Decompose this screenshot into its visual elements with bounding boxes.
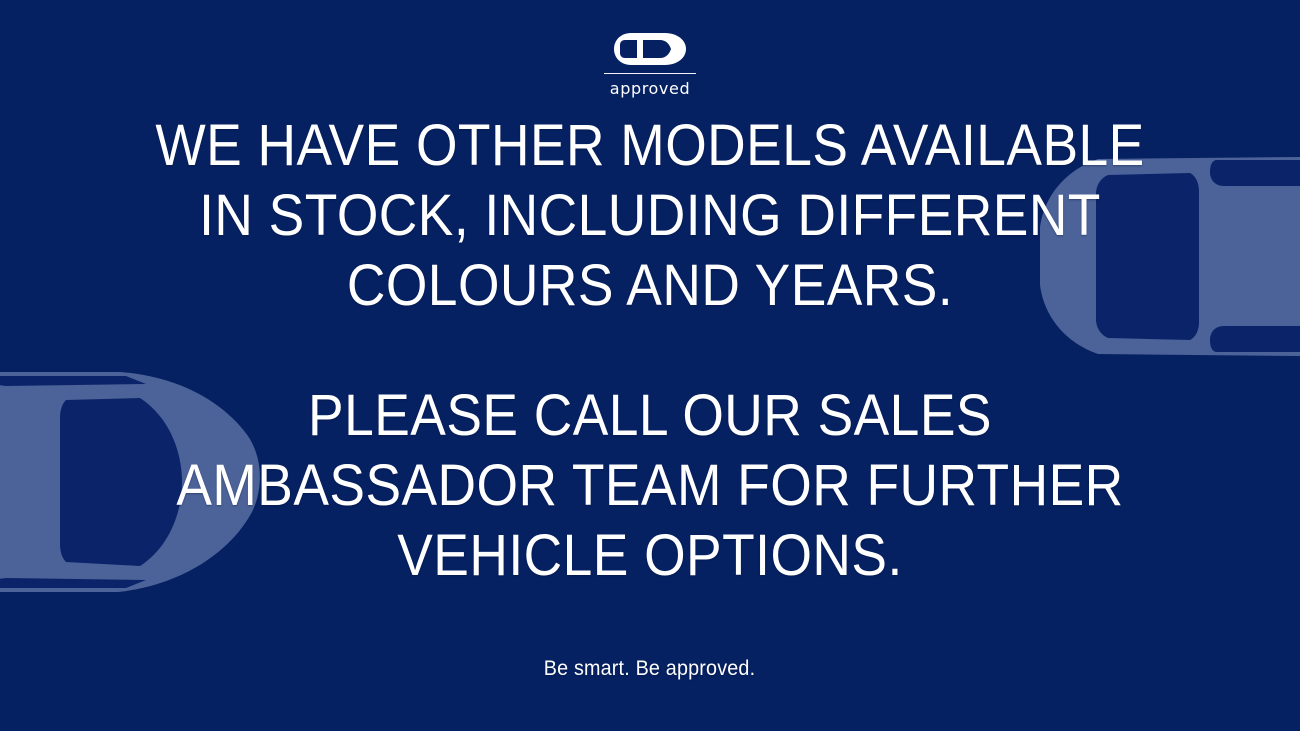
car-top-view-icon <box>613 32 687 66</box>
promo-slide: approved WE HAVE OTHER MODELS AVAILABLE … <box>0 0 1300 731</box>
brand-logo: approved <box>0 32 1300 98</box>
headline-paragraph-two: PLEASE CALL OUR SALES AMBASSADOR TEAM FO… <box>130 381 1170 591</box>
headline-paragraph-one: WE HAVE OTHER MODELS AVAILABLE IN STOCK,… <box>139 111 1160 321</box>
brand-tagline: Be smart. Be approved. <box>544 657 756 681</box>
logo-divider <box>604 73 696 74</box>
message-block: WE HAVE OTHER MODELS AVAILABLE IN STOCK,… <box>0 0 1300 731</box>
logo-wordmark: approved <box>610 79 690 98</box>
